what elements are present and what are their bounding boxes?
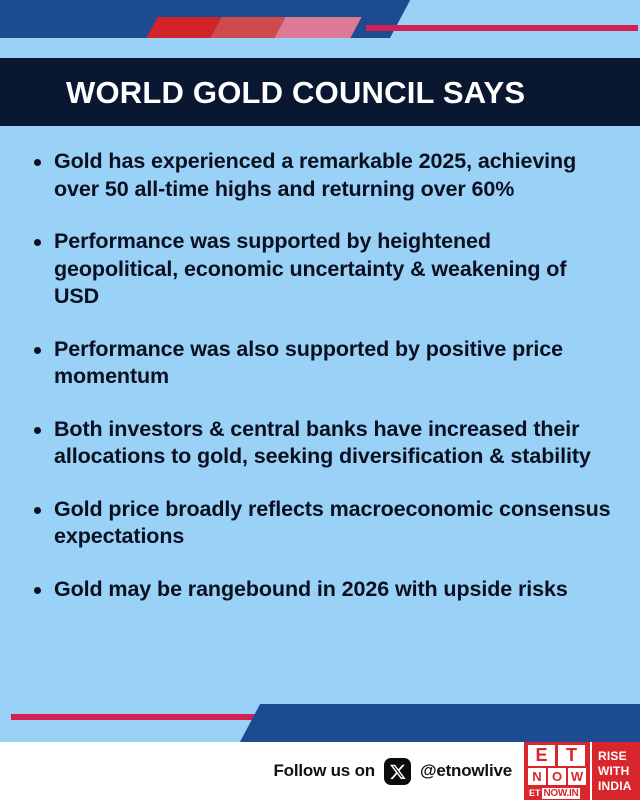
bullet-dot-icon — [34, 159, 41, 166]
logo-letter-n: N — [528, 768, 546, 785]
et-letters-row: E T — [528, 745, 587, 766]
bullet-dot-icon — [34, 347, 41, 354]
title-bar: WORLD GOLD COUNCIL SAYS — [0, 58, 640, 126]
bottom-decorative-band — [0, 697, 640, 742]
list-item-text: Gold has experienced a remarkable 2025, … — [54, 148, 614, 203]
top-crimson-line — [366, 25, 638, 31]
page-title: WORLD GOLD COUNCIL SAYS — [0, 77, 525, 108]
list-item: Performance was also supported by positi… — [34, 336, 618, 391]
list-item: Gold price broadly reflects macroeconomi… — [34, 496, 618, 551]
x-twitter-icon[interactable] — [384, 758, 411, 785]
etnow-domain-rest: NOW.IN — [542, 788, 581, 799]
list-item: Gold may be rangebound in 2026 with upsi… — [34, 576, 618, 604]
logo-letter-w: W — [568, 768, 586, 785]
list-item-text: Both investors & central banks have incr… — [54, 416, 614, 471]
list-item: Gold has experienced a remarkable 2025, … — [34, 148, 618, 203]
top-decorative-band — [0, 0, 640, 58]
top-accent-bar-red — [146, 17, 221, 38]
list-item: Both investors & central banks have incr… — [34, 416, 618, 471]
top-accent-bar-pink — [274, 17, 361, 38]
list-item-text: Gold price broadly reflects macroeconomi… — [54, 496, 614, 551]
etnow-tagline: RISE WITH INDIA — [590, 742, 640, 800]
bullet-dot-icon — [34, 507, 41, 514]
logo-letter-t: T — [558, 745, 585, 766]
bottom-blue-slant — [240, 704, 640, 742]
now-letters-row: N O W — [528, 768, 587, 785]
bottom-crimson-line — [11, 714, 283, 720]
tagline-line-3: INDIA — [598, 779, 640, 794]
tagline-line-1: RISE — [598, 749, 640, 764]
logo-letter-e: E — [528, 745, 555, 766]
follow-us-group: Follow us on @etnowlive — [273, 758, 512, 785]
bullet-dot-icon — [34, 427, 41, 434]
list-item-text: Performance was also supported by positi… — [54, 336, 614, 391]
tagline-line-2: WITH — [598, 764, 640, 779]
list-item-text: Gold may be rangebound in 2026 with upsi… — [54, 576, 568, 604]
etnow-domain: ET NOW.IN — [528, 787, 587, 799]
footer: Follow us on @etnowlive E T N O W — [0, 742, 640, 800]
social-handle[interactable]: @etnowlive — [420, 761, 512, 781]
infographic-card: WORLD GOLD COUNCIL SAYS Gold has experie… — [0, 0, 640, 800]
follow-us-label: Follow us on — [273, 761, 374, 781]
list-item-text: Performance was supported by heightened … — [54, 228, 614, 311]
etnow-domain-prefix: ET — [528, 788, 542, 799]
bullet-dot-icon — [34, 587, 41, 594]
top-accent-bar-red-mid — [210, 17, 285, 38]
etnow-wordmark: E T N O W ET NOW.IN — [524, 742, 590, 800]
list-item: Performance was supported by heightened … — [34, 228, 618, 311]
bullet-list: Gold has experienced a remarkable 2025, … — [0, 126, 640, 628]
logo-letter-o: O — [548, 768, 566, 785]
bullet-dot-icon — [34, 239, 41, 246]
etnow-logo[interactable]: E T N O W ET NOW.IN RISE WITH INDIA — [522, 742, 640, 800]
